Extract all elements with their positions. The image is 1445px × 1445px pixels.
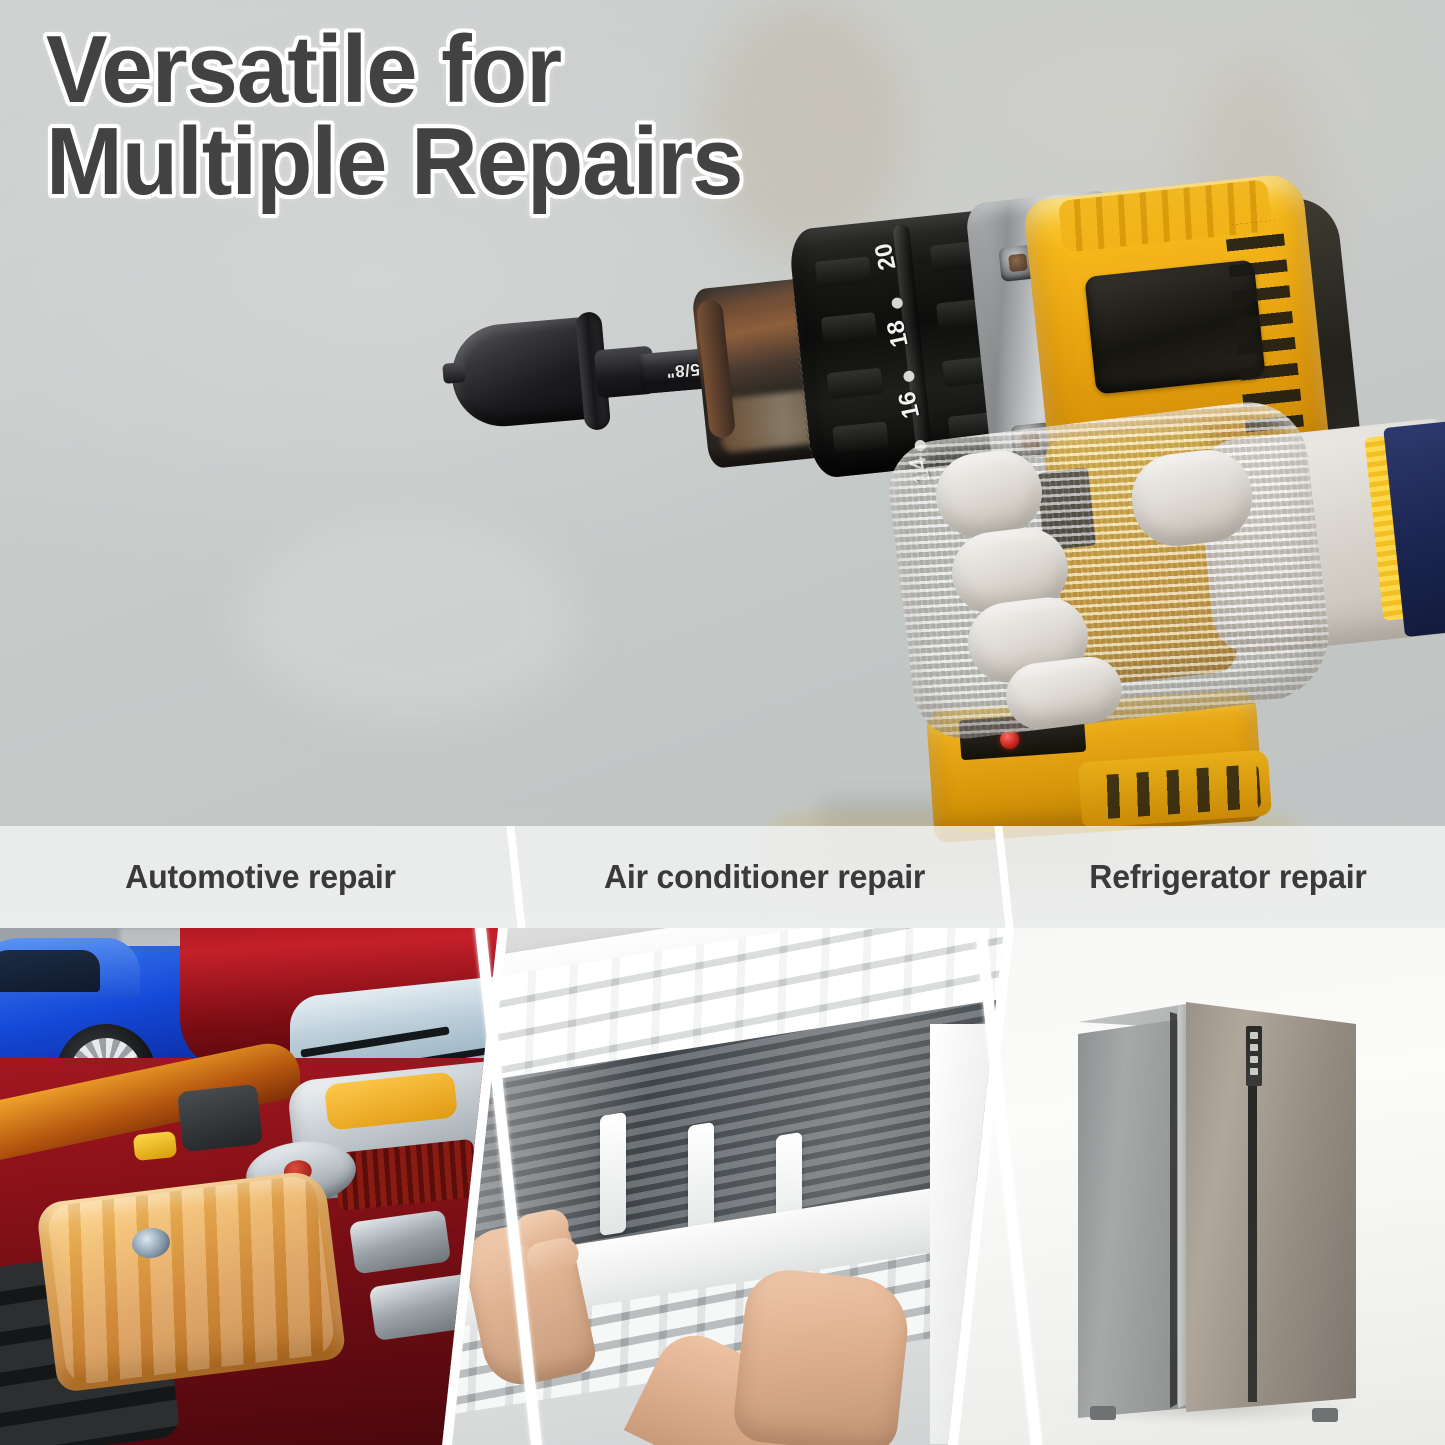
label-text: Automotive repair	[125, 858, 396, 896]
clutch-dot	[891, 297, 903, 309]
headline-line-1: Versatile for	[46, 24, 742, 116]
control-button[interactable]	[1250, 1056, 1258, 1063]
headline-line-2: Multiple Repairs	[46, 116, 742, 208]
bit-size-text: 5/8"	[665, 359, 700, 382]
technician-right-hand	[731, 1266, 912, 1445]
clutch-number: 18	[882, 318, 915, 350]
clutch-dot	[903, 370, 915, 382]
label-text: Air conditioner repair	[604, 858, 925, 896]
product-infographic: 5/8" 20 18 16	[0, 0, 1445, 1445]
ac-coil-strap	[600, 1112, 626, 1236]
door-handle-recess[interactable]	[1248, 1032, 1257, 1402]
refrigerator-foot	[1090, 1406, 1116, 1420]
control-button[interactable]	[1250, 1032, 1258, 1039]
clutch-number: 16	[893, 389, 926, 421]
label-refrigerator-repair: Refrigerator repair	[1010, 826, 1445, 928]
control-button[interactable]	[1250, 1068, 1258, 1075]
refrigerator-right-door	[1186, 1002, 1356, 1412]
page-title: Versatile for Multiple Repairs	[46, 24, 742, 208]
label-text: Refrigerator repair	[1089, 858, 1366, 896]
clutch-number: 20	[870, 241, 903, 273]
control-button[interactable]	[1250, 1044, 1258, 1051]
door-gap	[1170, 1012, 1177, 1408]
label-air-conditioner-repair: Air conditioner repair	[522, 826, 1008, 928]
application-panels	[0, 928, 1445, 1445]
oil-cap	[133, 1131, 177, 1161]
blue-car-window	[0, 950, 100, 992]
category-label-band: Automotive repair Air conditioner repair…	[0, 826, 1445, 928]
reservoir-box	[177, 1084, 263, 1152]
refrigerator-foot	[1312, 1408, 1338, 1422]
label-automotive-repair: Automotive repair	[0, 826, 520, 928]
panel-automotive-repair	[0, 928, 500, 1445]
manifold-ribs	[46, 1174, 336, 1386]
flaring-tool-bit-tip	[442, 362, 466, 384]
